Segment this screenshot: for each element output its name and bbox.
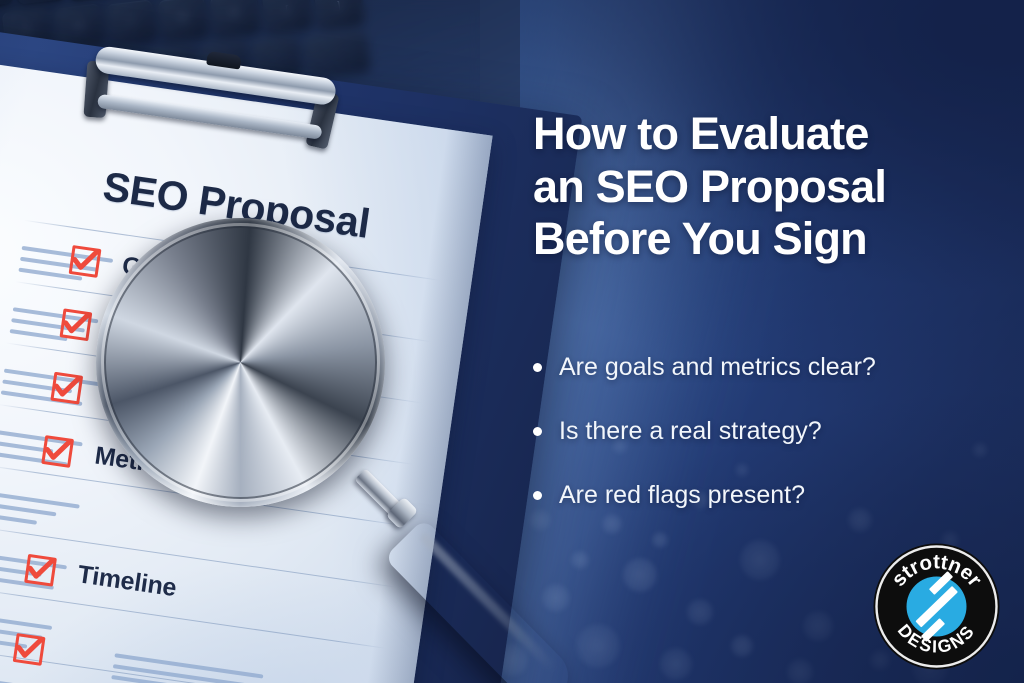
strottner-designs-logo: strottner DESIGNS bbox=[871, 541, 1002, 672]
bullet-item: Is there a real strategy? bbox=[533, 416, 1003, 446]
check-icon bbox=[23, 552, 57, 586]
form-placeholder-line bbox=[0, 675, 51, 683]
headline-line-3: Before You Sign bbox=[533, 213, 1003, 266]
bullet-text: Are red flags present? bbox=[559, 480, 805, 510]
page-title: How to Evaluate an SEO Proposal Before Y… bbox=[533, 108, 1003, 266]
bullet-dot-icon bbox=[533, 491, 542, 500]
logo-badge-svg: strottner DESIGNS bbox=[871, 541, 1002, 672]
check-icon bbox=[50, 370, 84, 404]
checklist-item-label: Timeline bbox=[76, 560, 178, 603]
check-icon bbox=[59, 306, 93, 340]
form-placeholder-line bbox=[0, 502, 56, 516]
seo-proposal-graphic: 567890-=TYUIOP[]GHJKL;'BNM,./ SEO Propos… bbox=[0, 0, 1024, 683]
magnifying-glass: GoalsStrategyDeliverablesMetrics bbox=[96, 218, 385, 507]
bullet-item: Are goals and metrics clear? bbox=[533, 352, 1003, 382]
bullet-text: Is there a real strategy? bbox=[559, 416, 822, 446]
form-rule bbox=[0, 527, 395, 588]
form-placeholder-line bbox=[0, 614, 52, 630]
bullet-dot-icon bbox=[533, 363, 542, 372]
magnifier-rim bbox=[96, 218, 385, 507]
headline-line-1: How to Evaluate bbox=[533, 108, 1003, 161]
form-placeholder-line bbox=[0, 513, 37, 525]
form-rule bbox=[0, 588, 386, 649]
magnifier-rim-inner bbox=[101, 223, 380, 502]
bullet-list: Are goals and metrics clear?Is there a r… bbox=[533, 352, 1003, 544]
check-icon bbox=[12, 631, 46, 665]
headline-line-2: an SEO Proposal bbox=[533, 161, 1003, 214]
check-icon bbox=[40, 433, 74, 467]
bullet-item: Are red flags present? bbox=[533, 480, 1003, 510]
bullet-text: Are goals and metrics clear? bbox=[559, 352, 876, 382]
bullet-dot-icon bbox=[533, 427, 542, 436]
